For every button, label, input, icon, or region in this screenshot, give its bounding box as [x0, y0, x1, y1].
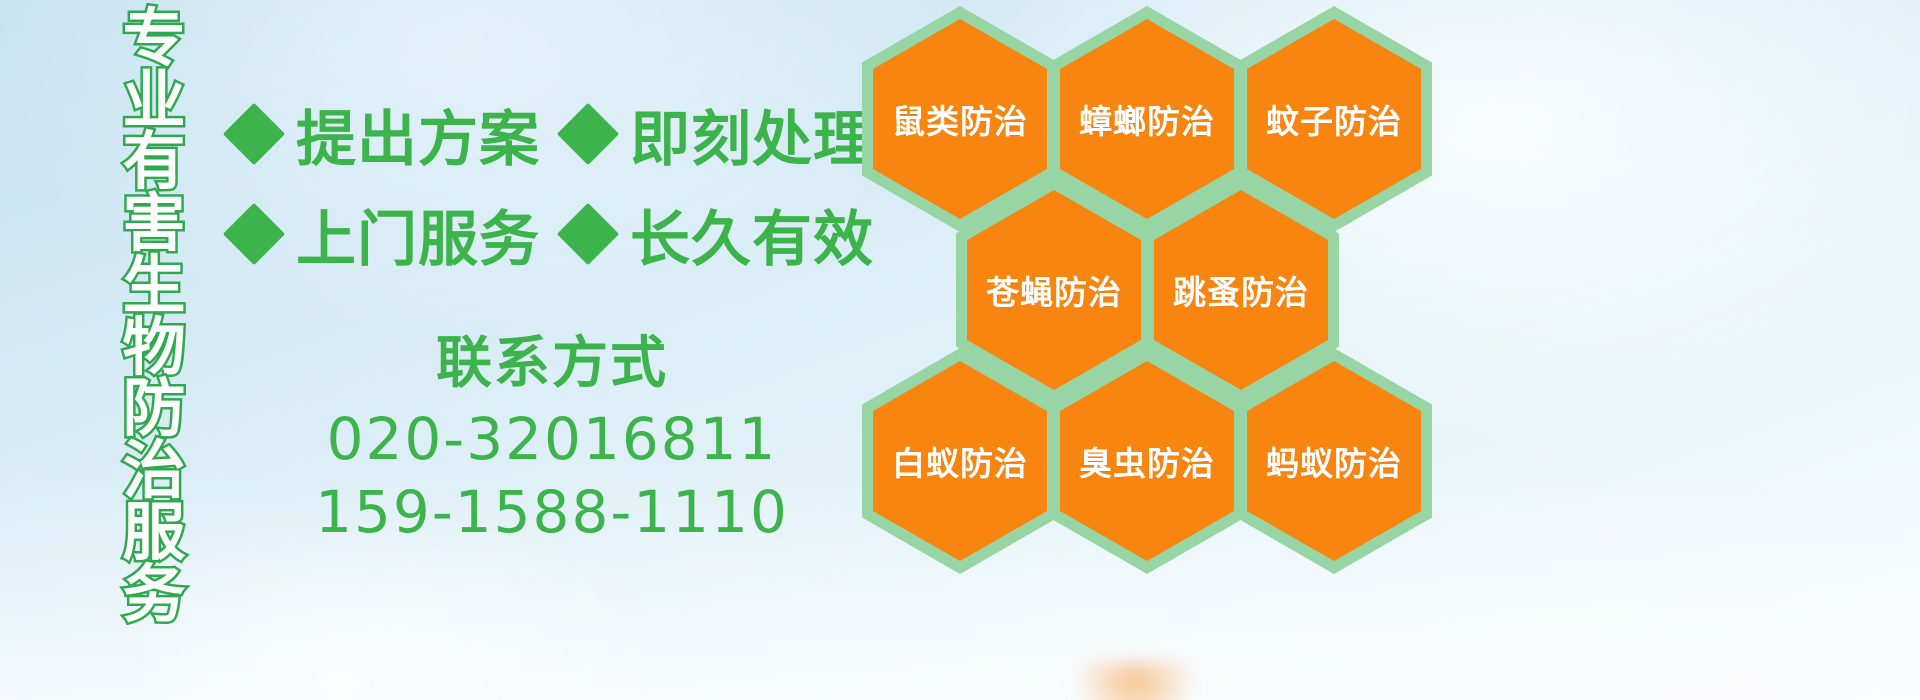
feature-list: 提出方案 即刻处理 上门服务 长久有效: [232, 84, 872, 284]
feature-line: 提出方案 即刻处理: [232, 84, 872, 184]
background-blur-spot: [305, 660, 375, 700]
vertical-slogan: 专 业 有 害 生 物 防 治 服 务: [102, 8, 206, 568]
vertical-slogan-char: 有: [123, 131, 186, 193]
feature-label: 上门服务: [296, 191, 540, 278]
feature-label: 长久有效: [630, 191, 874, 278]
service-hex-ant[interactable]: 蚂蚁防治: [1236, 348, 1432, 574]
service-hex-bedbug[interactable]: 臭虫防治: [1049, 348, 1245, 574]
service-hex-label: 臭虫防治: [1049, 348, 1245, 574]
service-hex-label: 蚂蚁防治: [1236, 348, 1432, 574]
diamond-icon: [557, 103, 619, 165]
vertical-slogan-char: 业: [123, 70, 186, 132]
vertical-slogan-char: 务: [123, 564, 186, 626]
feature-line: 上门服务 长久有效: [232, 184, 872, 284]
service-hex-label: 白蚁防治: [862, 348, 1058, 574]
background-orange-glow: [1075, 664, 1195, 700]
contact-block: 联系方式 020-32016811 159-1588-1110: [232, 318, 872, 549]
contact-phone-landline[interactable]: 020-32016811: [232, 403, 872, 476]
vertical-slogan-char: 治: [123, 440, 186, 502]
vertical-slogan-char: 害: [123, 193, 186, 255]
diamond-icon: [557, 203, 619, 265]
feature-label: 即刻处理: [630, 91, 874, 178]
vertical-slogan-char: 生: [123, 255, 186, 317]
service-hex-grid: 鼠类防治 蟑螂防治 蚊子防治 苍蝇防治 跳蚤防治 白蚁防治: [862, 0, 1462, 580]
vertical-slogan-char: 防: [123, 378, 186, 440]
banner-root: 专 业 有 害 生 物 防 治 服 务 提出方案 即刻处理 上门服务 长久有效 …: [0, 0, 1920, 700]
contact-heading: 联系方式: [232, 318, 872, 399]
contact-phone-mobile[interactable]: 159-1588-1110: [232, 476, 872, 549]
vertical-slogan-char: 物: [123, 317, 186, 379]
diamond-icon: [223, 203, 285, 265]
service-hex-termite[interactable]: 白蚁防治: [862, 348, 1058, 574]
diamond-icon: [223, 103, 285, 165]
feature-label: 提出方案: [296, 91, 540, 178]
vertical-slogan-char: 专: [123, 8, 186, 70]
vertical-slogan-char: 服: [123, 502, 186, 564]
